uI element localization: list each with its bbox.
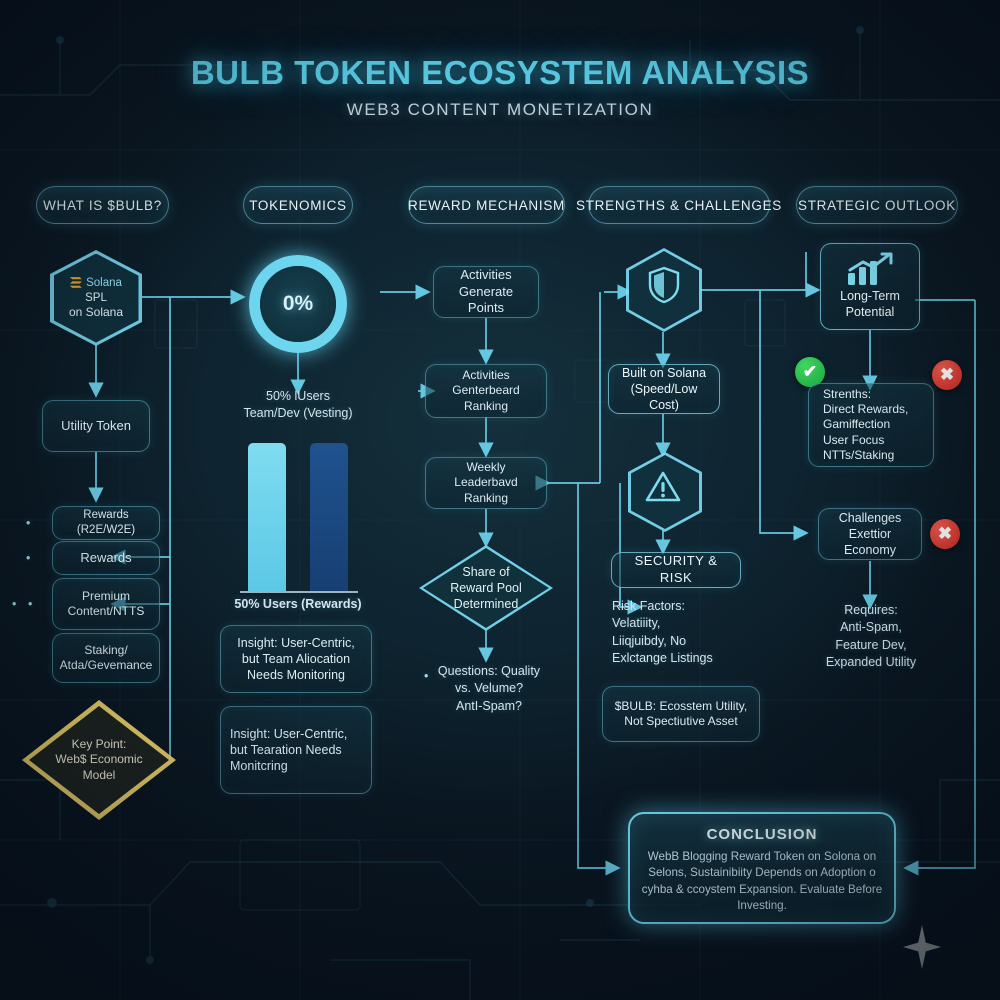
spl-label: SPL (85, 291, 107, 305)
growth-chart-icon (846, 252, 894, 286)
node-staking-governance[interactable]: Staking/ Atda/Gevemance (52, 633, 160, 683)
node-activities-generate-points[interactable]: Activities Generate Points (433, 266, 539, 318)
node-activities-leaderboard[interactable]: Activities Genterbeard Ranking (425, 364, 547, 418)
on-solana-label: on Solana (69, 305, 123, 320)
page-subtitle: WEB3 CONTENT MONETIZATION (0, 100, 1000, 120)
bullet-dot-2: • (26, 550, 30, 567)
token-allocation-donut[interactable]: 0% (249, 255, 347, 353)
bar-team-dev (310, 443, 348, 591)
column-header-strategic-outlook[interactable]: STRATEGIC OUTLOOK (796, 186, 958, 224)
long-term-potential-label: Long-Term Potential (840, 288, 900, 320)
node-utility-token[interactable]: Utility Token (42, 400, 150, 452)
column-header-strengths-challenges[interactable]: STRENGTHS & CHALLENGES (588, 186, 770, 224)
status-badge-danger-strengths: ✖ (932, 360, 962, 390)
node-rewards[interactable]: Rewards (52, 541, 160, 575)
page-title: BULB TOKEN ECOSYSTEM ANALYSIS (0, 54, 1000, 92)
solana-brand-label: Solana (86, 276, 122, 290)
bar-users-rewards (248, 443, 286, 591)
solana-logo-icon (70, 277, 83, 288)
node-long-term-potential[interactable]: Long-Term Potential (820, 243, 920, 330)
node-bulb-utility-note[interactable]: $BULB: Ecosstem Utility, Not Spectiutive… (602, 686, 760, 742)
node-insight-iteration[interactable]: Insight: User-Centric, but Tearation Nee… (220, 706, 372, 794)
conclusion-title: CONCLUSION (640, 826, 884, 843)
bullet-dot-3: • (12, 596, 16, 613)
node-security-risk[interactable]: SECURITY & RISK (611, 552, 741, 588)
infographic-canvas: BULB TOKEN ECOSYSTEM ANALYSIS WEB3 CONTE… (0, 0, 1000, 1000)
shield-icon (648, 266, 680, 304)
donut-value-label: 0% (260, 266, 336, 342)
reward-pool-diamond[interactable]: Share of Reward Pool Determined (419, 545, 553, 631)
risk-factors-text: Risk Factors: Velatiiity, Liiqjuibdy, No… (612, 598, 768, 667)
bar-chart-axis (240, 591, 358, 593)
column-header-what-is-bulb[interactable]: WHAT IS $BULB? (36, 186, 169, 224)
node-challenges[interactable]: Challenges Exettior Economy (818, 508, 922, 560)
donut-caption: 50% lUsers Team/Dev (Vesting) (218, 388, 378, 423)
key-point-label: Key Point: Web$ Economic Model (22, 700, 176, 820)
column-header-tokenomics[interactable]: TOKENOMICS (243, 186, 353, 224)
reward-pool-label: Share of Reward Pool Determined (419, 545, 553, 631)
status-badge-danger-challenges: ✖ (930, 519, 960, 549)
requires-text: Requires: Anti-Spam, Feature Dev, Expand… (796, 602, 946, 671)
conclusion-body: WebB Blogging Reward Token on Solona on … (640, 849, 884, 915)
node-rewards-r2e[interactable]: Rewards (R2E/W2E) (52, 506, 160, 540)
node-weekly-leaderboard[interactable]: Weekly Leaderbavd Ranking (425, 457, 547, 509)
warning-triangle-icon (645, 470, 681, 503)
key-point-diamond[interactable]: Key Point: Web$ Economic Model (22, 700, 176, 820)
bullet-dot-1: • (26, 515, 30, 532)
conclusion-panel[interactable]: CONCLUSION WebB Blogging Reward Token on… (628, 812, 896, 924)
node-premium-content[interactable]: Premium Content/NTTS (52, 578, 160, 630)
node-strengths-list[interactable]: Strenths: Direct Rewards, Gamiffection U… (808, 383, 934, 467)
node-built-on-solana[interactable]: Built on Solana (Speed/Low Cost) (608, 364, 720, 414)
questions-text: Questions: Quality vs. Velume? AntI-Spam… (414, 663, 564, 715)
column-header-reward-mechanism[interactable]: REWARD MECHANISM (408, 186, 565, 224)
bullet-dot-4: • (28, 596, 32, 613)
node-insight-team-allocation[interactable]: Insight: User-Centric, but Team Aliocati… (220, 625, 372, 693)
bar-chart-caption: 50% Users (Rewards) (218, 596, 378, 613)
